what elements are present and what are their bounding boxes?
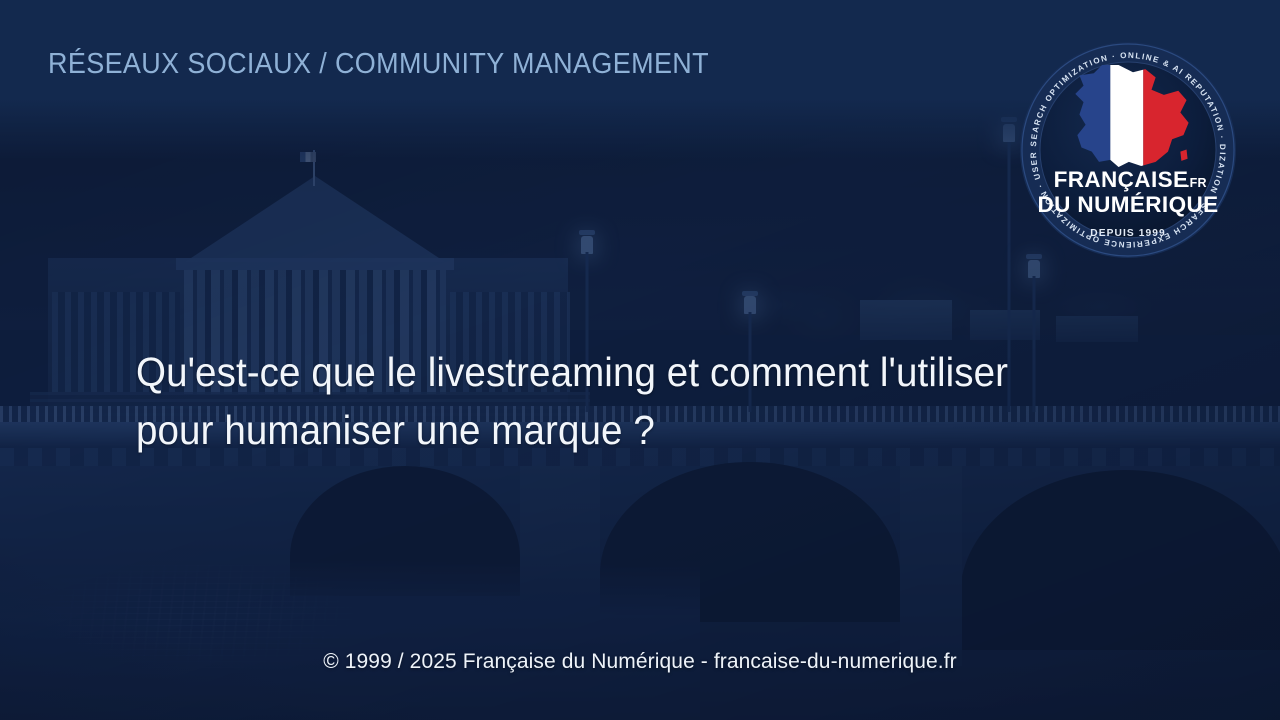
logo-since-text: DEPUIS 1999 (1090, 228, 1166, 239)
page-title: Qu'est-ce que le livestreaming et commen… (136, 343, 1057, 459)
footer-copyright: © 1999 / 2025 Française du Numérique - f… (0, 650, 1280, 674)
headline-line-2: pour humaniser une marque ? (136, 401, 1057, 459)
logo-brand-line-1: FRANÇAISE (1054, 167, 1189, 192)
logo-brand-tld: .FR (1186, 176, 1207, 190)
brand-logo[interactable]: ARTIFICIAL INTELLIGENCE SEARCH OPTIMIZAT… (1018, 40, 1238, 260)
headline-line-1: Qu'est-ce que le livestreaming et commen… (136, 343, 1057, 401)
category-kicker: RÉSEAUX SOCIAUX / COMMUNITY MANAGEMENT (48, 48, 709, 81)
presentation-slide: RÉSEAUX SOCIAUX / COMMUNITY MANAGEMENT Q… (0, 0, 1280, 720)
logo-brand-line-2: DU NUMÉRIQUE (1037, 192, 1218, 217)
